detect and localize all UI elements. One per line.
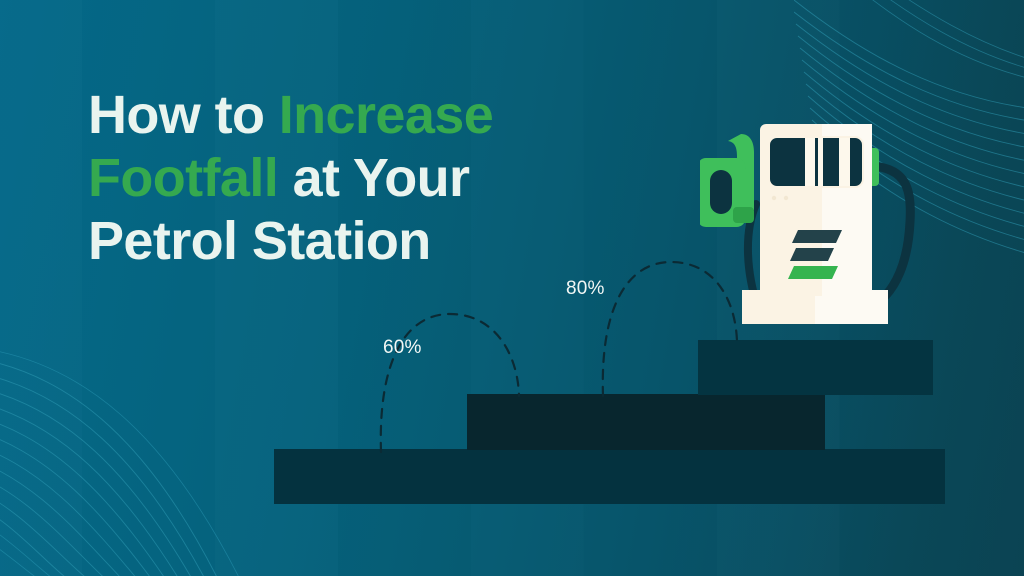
step-bar-middle — [467, 394, 825, 450]
indicator-dot-1 — [772, 196, 776, 200]
step-bar-lowest — [274, 449, 945, 504]
indicator-dot-2 — [784, 196, 788, 200]
hero-banner: How to Increase Footfall at Your Petrol … — [0, 0, 1024, 576]
headline-text-accent-1: Increase — [279, 85, 493, 145]
headline-text-plain-1: How to — [88, 85, 279, 145]
nozzle-collar — [733, 207, 754, 223]
arc-label-80: 80% — [566, 278, 605, 300]
headline-line-1: How to Increase — [88, 84, 608, 147]
nozzle-grip-hole — [710, 170, 732, 214]
headline-text-plain-3: Petrol Station — [88, 211, 431, 271]
arc-label-60: 60% — [383, 337, 422, 359]
pump-display-screen — [769, 137, 863, 187]
headline-line-3: Petrol Station — [88, 210, 608, 273]
headline-line-2: Footfall at Your — [88, 147, 608, 210]
fuel-nozzle-icon — [700, 134, 754, 227]
page-title: How to Increase Footfall at Your Petrol … — [88, 84, 608, 274]
pump-hose-right — [876, 167, 910, 304]
headline-text-accent-2: Footfall — [88, 148, 278, 208]
step-bar-top — [698, 340, 933, 395]
petrol-pump-illustration — [700, 112, 935, 344]
headline-text-plain-2: at Your — [278, 148, 469, 208]
wave-fan-bottom-left-icon — [0, 346, 260, 576]
